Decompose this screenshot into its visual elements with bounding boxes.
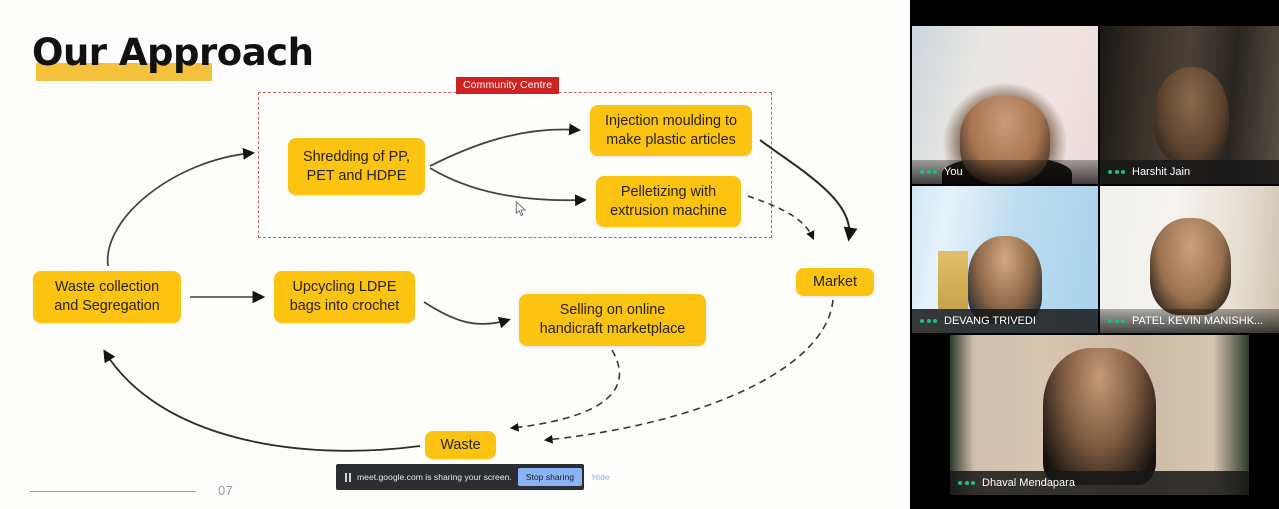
node-line: handicraft marketplace (540, 321, 686, 337)
flow-node-waste: Waste (425, 431, 496, 459)
tile-namebar: Harshit Jain (1100, 160, 1279, 184)
community-centre-label: Community Centre (456, 77, 559, 94)
flow-node-waste-collection: Waste collection and Segregation (33, 271, 181, 323)
video-tile-devang-trivedi[interactable]: DEVANG TRIVEDI (912, 186, 1098, 333)
video-tile-you[interactable]: You (912, 26, 1098, 184)
screen-share-notification-bar[interactable]: meet.google.com is sharing your screen. … (336, 464, 584, 490)
flow-node-pelletizing: Pelletizing with extrusion machine (596, 176, 741, 227)
node-line: Waste collection (55, 279, 159, 295)
panel-top-strip (910, 0, 1279, 26)
stop-sharing-button[interactable]: Stop sharing (518, 468, 582, 487)
tile-namebar: You (912, 160, 1098, 184)
screen-share-window: Our Approach Community Centre (0, 0, 1279, 509)
flow-node-upcycling: Upcycling LDPE bags into crochet (274, 271, 415, 323)
page-number: 07 (218, 483, 233, 498)
mic-active-dots-icon (958, 481, 975, 485)
flow-node-market: Market (796, 268, 874, 296)
page-title-group: Our Approach (32, 31, 313, 74)
pause-icon[interactable] (345, 473, 351, 482)
mic-active-dots-icon (920, 319, 937, 323)
node-line: extrusion machine (610, 203, 727, 219)
tile-namebar: PATEL KEVIN MANISHK... (1100, 309, 1279, 333)
flow-node-shredding: Shredding of PP, PET and HDPE (288, 138, 425, 195)
hide-button[interactable]: Hide (588, 472, 614, 482)
node-line: bags into crochet (290, 298, 400, 314)
node-line: Shredding of PP, (303, 149, 410, 165)
page-title: Our Approach (32, 31, 313, 74)
mic-active-dots-icon (1108, 319, 1125, 323)
participant-name: PATEL KEVIN MANISHK... (1132, 315, 1263, 327)
node-line: make plastic articles (606, 132, 736, 148)
node-line: and Segregation (54, 298, 160, 314)
share-status-text: meet.google.com is sharing your screen. (357, 472, 512, 482)
node-line: Selling on online (560, 302, 666, 318)
participants-panel: You Harshit Jain DEVANG TRIVEDI PATEL KE… (910, 0, 1279, 509)
participant-name: You (944, 166, 963, 178)
video-tile-harshit-jain[interactable]: Harshit Jain (1100, 26, 1279, 184)
mic-active-dots-icon (1108, 170, 1125, 174)
node-line: Upcycling LDPE (293, 279, 397, 295)
mouse-pointer-icon (515, 201, 527, 217)
mic-active-dots-icon (920, 170, 937, 174)
node-line: PET and HDPE (307, 168, 407, 184)
shared-slide-region: Our Approach Community Centre (0, 0, 910, 509)
footer-rule (30, 491, 196, 492)
participant-name: Harshit Jain (1132, 166, 1190, 178)
tile-namebar: Dhaval Mendapara (950, 471, 1249, 495)
video-tile-patel-kevin[interactable]: PATEL KEVIN MANISHK... (1100, 186, 1279, 333)
tile-namebar: DEVANG TRIVEDI (912, 309, 1098, 333)
flow-node-injection-moulding: Injection moulding to make plastic artic… (590, 105, 752, 156)
node-line: Pelletizing with (621, 184, 716, 200)
participant-name: Dhaval Mendapara (982, 477, 1075, 489)
video-tile-dhaval-mendapara[interactable]: Dhaval Mendapara (950, 335, 1249, 495)
participant-name: DEVANG TRIVEDI (944, 315, 1036, 327)
node-line: Injection moulding to (605, 113, 737, 129)
flow-node-selling-online: Selling on online handicraft marketplace (519, 294, 706, 346)
